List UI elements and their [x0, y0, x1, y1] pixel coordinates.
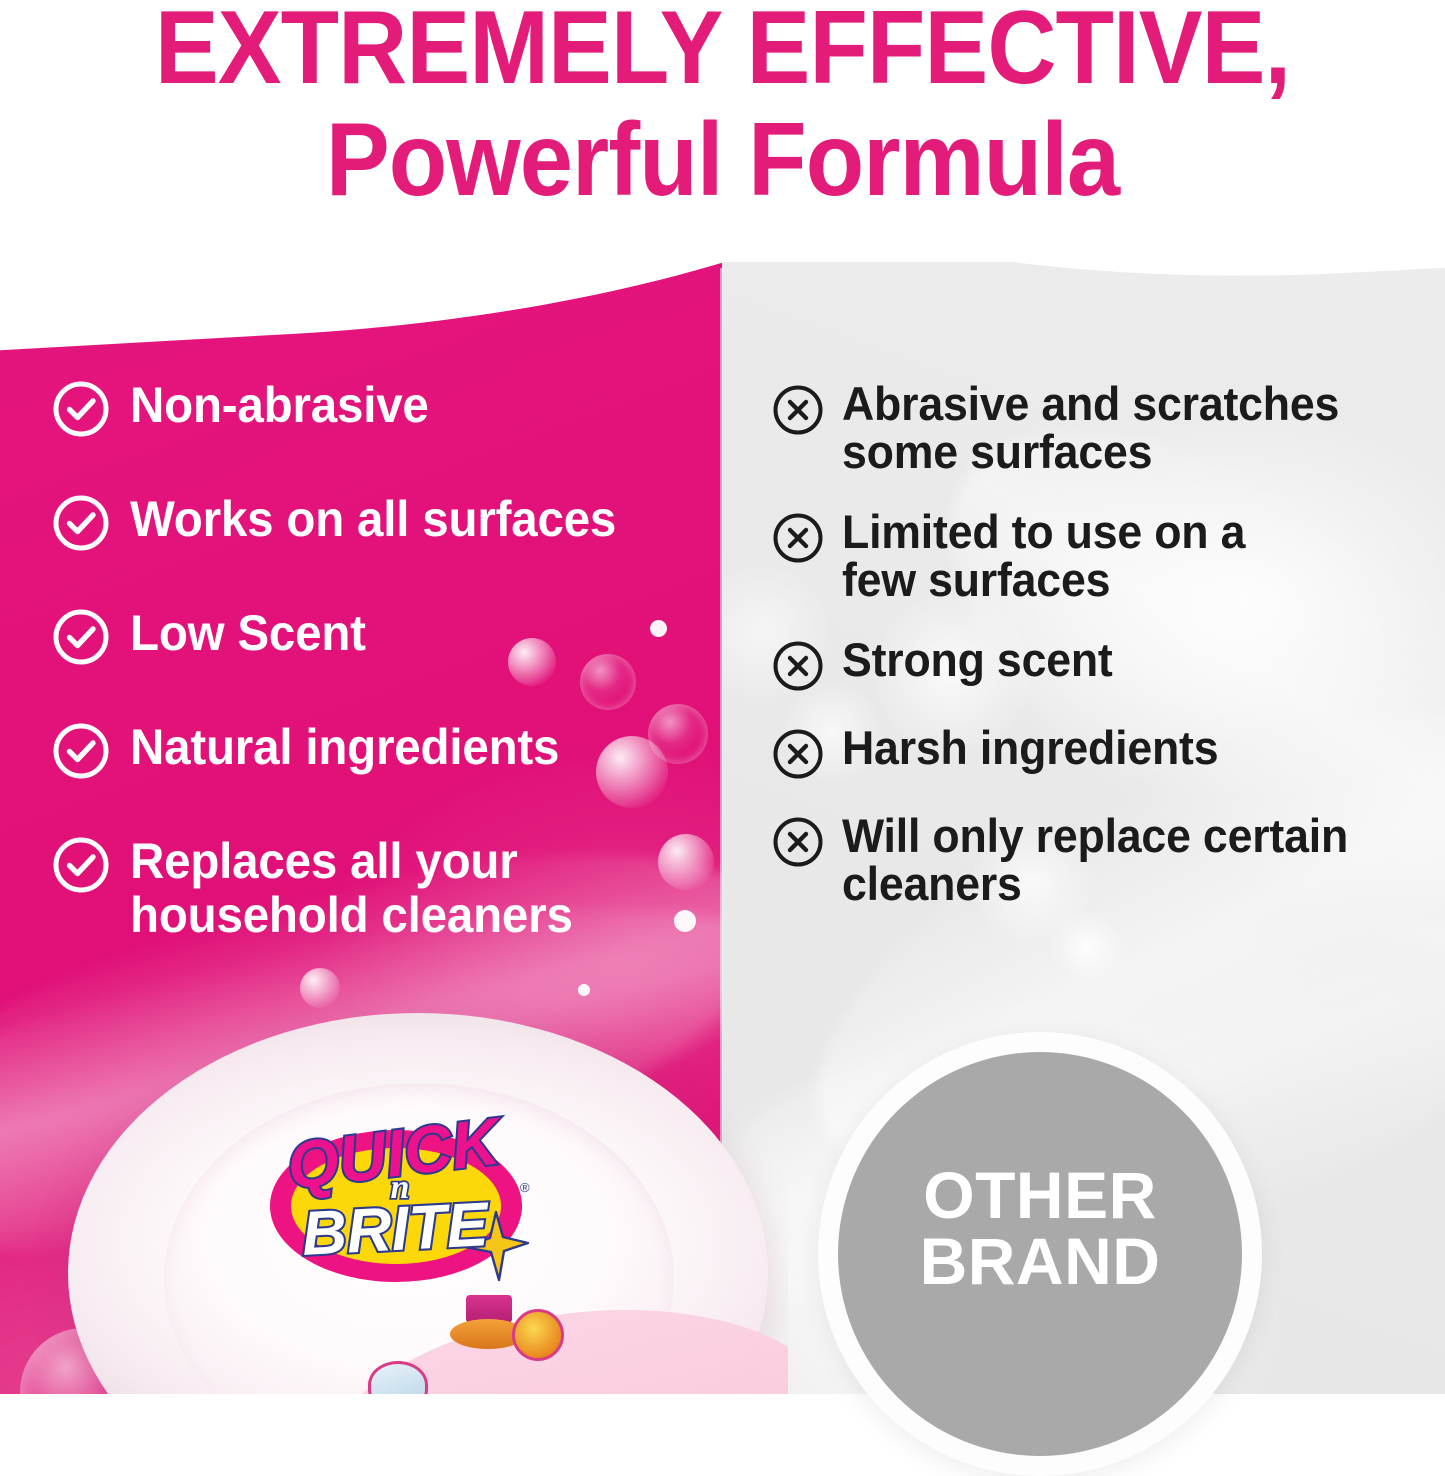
- other-brand-line-2: BRAND: [838, 1228, 1242, 1294]
- list-item: Low Scent: [52, 606, 712, 666]
- headline-line-1: EXTREMELY EFFECTIVE,: [58, 0, 1387, 100]
- list-item: Natural ingredients: [52, 720, 712, 780]
- label-vignette-pad: [512, 1309, 564, 1361]
- check-circle-icon: [52, 494, 110, 552]
- benefit-label: Replaces all your household cleaners: [130, 834, 577, 942]
- benefit-label: Non-abrasive: [130, 378, 429, 432]
- x-circle-icon: [772, 640, 824, 692]
- check-circle-icon: [52, 836, 110, 894]
- drawback-label: Strong scent: [842, 636, 1113, 684]
- benefits-list: Non-abrasive Works on all surfaces Low S…: [52, 378, 712, 942]
- x-circle-icon: [772, 816, 824, 868]
- logo-artwork: QUICK n BRITE ®: [228, 1088, 558, 1288]
- headline-line-2: Powerful Formula: [58, 108, 1387, 212]
- list-item: Abrasive and scratches some surfaces: [772, 380, 1392, 476]
- list-item: Non-abrasive: [52, 378, 712, 438]
- logo-trademark-mark: ®: [520, 1180, 530, 1195]
- check-circle-icon: [52, 722, 110, 780]
- benefit-label: Works on all surfaces: [130, 492, 616, 546]
- list-item: Replaces all your household cleaners: [52, 834, 712, 942]
- glow-decoration: [1052, 912, 1122, 982]
- other-brand-line-1: OTHER: [838, 1162, 1242, 1228]
- drawbacks-list: Abrasive and scratches some surfaces Lim…: [772, 380, 1392, 908]
- x-circle-icon: [772, 512, 824, 564]
- logo-word-brite: BRITE: [300, 1190, 491, 1269]
- x-circle-icon: [772, 728, 824, 780]
- list-item: Harsh ingredients: [772, 724, 1392, 780]
- x-circle-icon: [772, 384, 824, 436]
- benefit-label: Low Scent: [130, 606, 366, 660]
- quick-n-brite-logo: QUICK n BRITE ®: [228, 1088, 558, 1288]
- drawback-label: Abrasive and scratches some surfaces: [842, 380, 1365, 476]
- drawback-label: Limited to use on a few surfaces: [842, 508, 1251, 604]
- list-item: Limited to use on a few surfaces: [772, 508, 1392, 604]
- list-item: Will only replace certain cleaners: [772, 812, 1392, 908]
- list-item: Strong scent: [772, 636, 1392, 692]
- benefit-label: Natural ingredients: [130, 720, 559, 774]
- check-circle-icon: [52, 380, 110, 438]
- other-brand-label: OTHER BRAND: [838, 1162, 1242, 1294]
- drawback-label: Will only replace certain cleaners: [842, 812, 1365, 908]
- header: EXTREMELY EFFECTIVE, Powerful Formula: [0, 0, 1445, 262]
- list-item: Works on all surfaces: [52, 492, 712, 552]
- check-circle-icon: [52, 608, 110, 666]
- drawback-label: Harsh ingredients: [842, 724, 1218, 772]
